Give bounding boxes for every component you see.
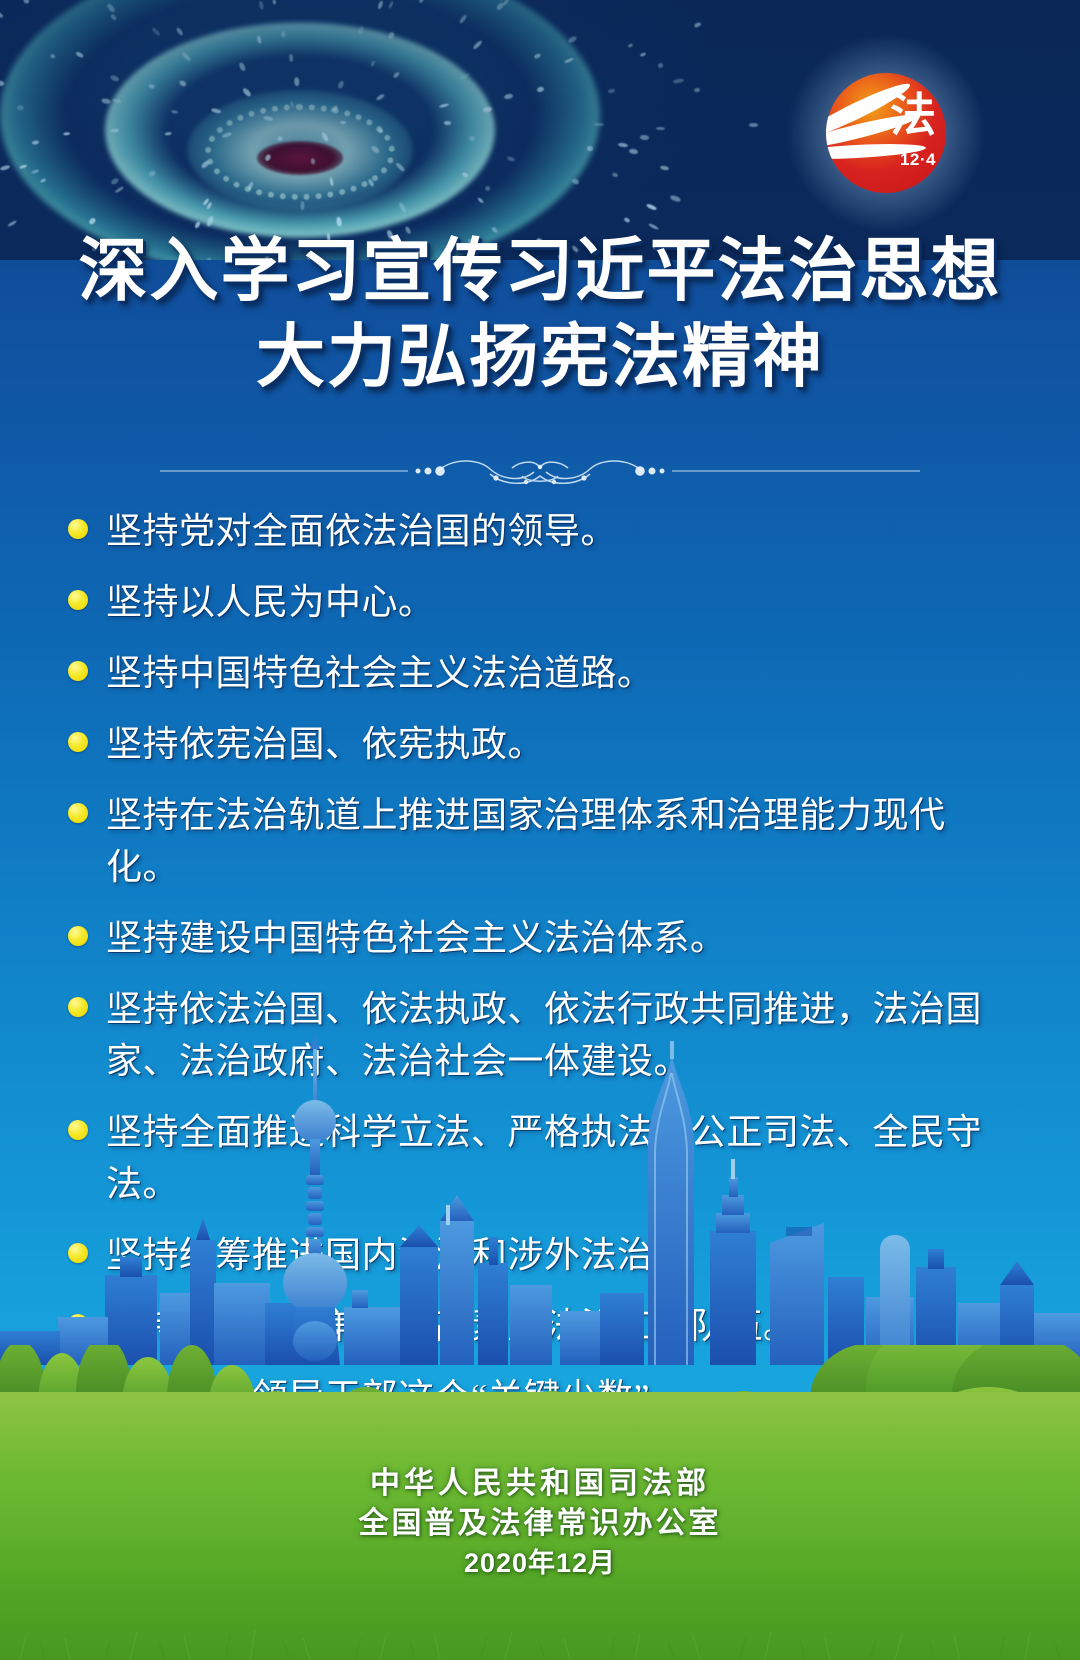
footer-date: 2020年12月 — [0, 1544, 1080, 1582]
bullet-dot-icon — [68, 997, 88, 1017]
shanghai-skyline-silhouette — [0, 1035, 1080, 1365]
logo-fa-character: 法 — [890, 93, 936, 139]
law-promotion-poster: 法 12·4 深入学习宣传习近平法治思想 大力弘扬宪法精神 — [0, 0, 1080, 1660]
list-item: 坚持中国特色社会主义法治道路。 — [68, 647, 1018, 699]
list-item-text: 坚持建设中国特色社会主义法治体系。 — [106, 912, 727, 964]
footer-ministry: 中华人民共和国司法部 — [0, 1464, 1080, 1504]
bullet-dot-icon — [68, 661, 88, 681]
poster-title: 深入学习宣传习近平法治思想 大力弘扬宪法精神 — [0, 228, 1080, 400]
list-item-text: 坚持党对全面依法治国的领导。 — [106, 505, 617, 557]
bullet-dot-icon — [68, 590, 88, 610]
list-item: 坚持建设中国特色社会主义法治体系。 — [68, 912, 1018, 964]
constitution-day-logo: 法 12·4 — [826, 73, 946, 193]
title-line-2: 大力弘扬宪法精神 — [0, 314, 1080, 400]
jin-mao-tower — [710, 1159, 756, 1365]
list-item: 坚持在法治轨道上推进国家治理体系和治理能力现代化。 — [68, 789, 1018, 893]
logo-disc: 法 12·4 — [826, 73, 946, 193]
list-item-text: 坚持以人民为中心。 — [106, 576, 435, 628]
footer-office: 全国普及法律常识办公室 — [0, 1504, 1080, 1544]
ornamental-flourish-divider — [160, 452, 920, 490]
bullet-dot-icon — [68, 519, 88, 539]
bullet-dot-icon — [68, 803, 88, 823]
list-item: 坚持党对全面依法治国的领导。 — [68, 505, 1018, 557]
logo-date-label: 12·4 — [900, 150, 936, 170]
list-item: 坚持依宪治国、依宪执政。 — [68, 718, 1018, 770]
title-line-1: 深入学习宣传习近平法治思想 — [0, 228, 1080, 314]
bullet-dot-icon — [68, 926, 88, 946]
list-item-text: 坚持依宪治国、依宪执政。 — [106, 718, 544, 770]
list-item: 坚持以人民为中心。 — [68, 576, 1018, 628]
shanghai-tower — [648, 1041, 694, 1365]
list-item-text: 坚持在法治轨道上推进国家治理体系和治理能力现代化。 — [106, 789, 1018, 893]
poster-footer: 中华人民共和国司法部 全国普及法律常识办公室 2020年12月 — [0, 1464, 1080, 1582]
bullet-dot-icon — [68, 732, 88, 752]
list-item-text: 坚持中国特色社会主义法治道路。 — [106, 647, 654, 699]
world-financial-center — [770, 1223, 824, 1365]
